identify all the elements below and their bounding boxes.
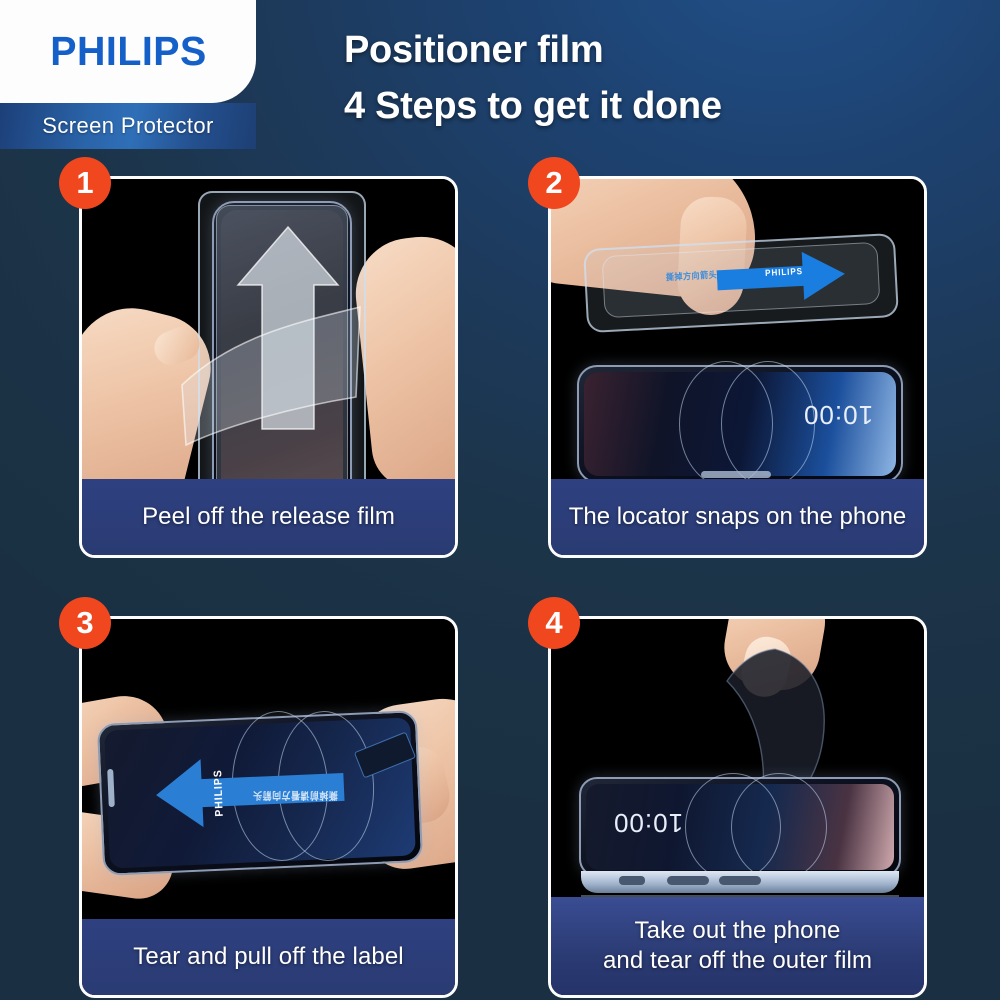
- step-caption-2: The locator snaps on the phone: [551, 479, 924, 555]
- step-panel-2: 2 PHILIPS 撕掉方向箭头: [548, 176, 927, 558]
- step-badge-1: 1: [59, 157, 111, 209]
- phone-time-4: 10:00: [613, 807, 683, 838]
- step-photo-4: 10:00: [551, 619, 924, 897]
- step-badge-3: 3: [59, 597, 111, 649]
- step-panel-4: 4 10:00: [548, 616, 927, 998]
- arrow-philips-label-2: PHILIPS: [765, 266, 803, 278]
- step-badge-4: 4: [528, 597, 580, 649]
- arrow-cn-text-2: 撕掉方向箭头: [666, 268, 718, 284]
- step-caption-1: Peel off the release film: [82, 479, 455, 555]
- arrow-cn-text-3: 撕掉前请看方向箭头: [253, 789, 338, 804]
- steps-grid: 1: [0, 0, 1000, 1000]
- step-caption-3: Tear and pull off the label: [82, 919, 455, 995]
- step-caption-4-line-2: and tear off the outer film: [603, 946, 872, 976]
- step-panel-3: 3 PHILIPS 撕掉前请看方向箭头: [79, 616, 458, 998]
- step-photo-2: PHILIPS 撕掉方向箭头 10:00: [551, 179, 924, 479]
- step-caption-4: Take out the phone and tear off the oute…: [551, 897, 924, 995]
- step-photo-1: [82, 179, 455, 479]
- peeling-film-flap: [174, 299, 364, 459]
- phone-time-2: 10:00: [803, 399, 873, 430]
- step-caption-4-line-1: Take out the phone: [603, 916, 872, 946]
- step-photo-3: PHILIPS 撕掉前请看方向箭头: [82, 619, 455, 919]
- arrow-philips-label-3: PHILIPS: [212, 769, 226, 817]
- step-badge-2: 2: [528, 157, 580, 209]
- step-panel-1: 1: [79, 176, 458, 558]
